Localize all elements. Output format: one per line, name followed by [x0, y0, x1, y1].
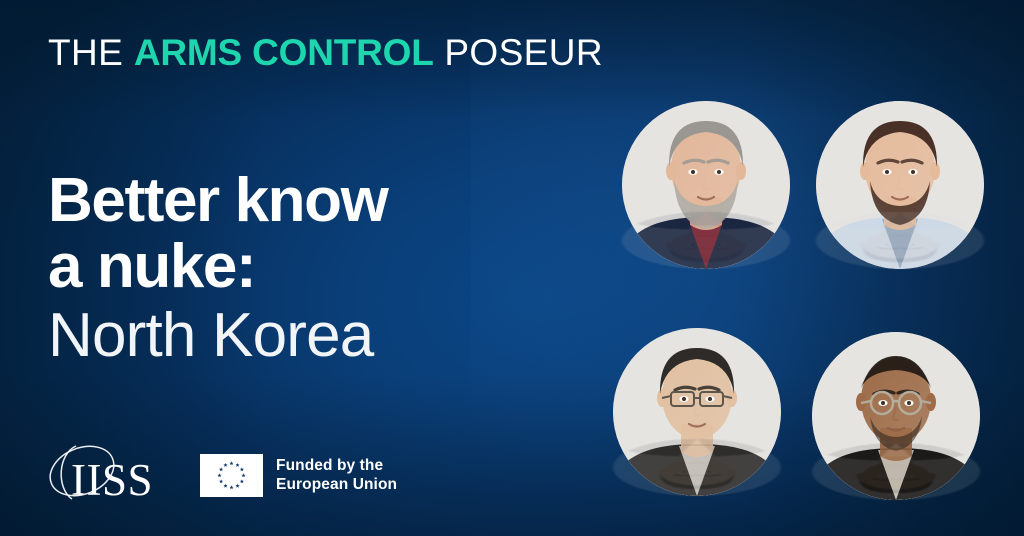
page-title: Better know a nuke: North Korea	[48, 168, 568, 369]
header-suffix: POSEUR	[434, 32, 603, 73]
eu-funding-line-2: European Union	[276, 475, 397, 494]
portrait-top-left	[622, 101, 790, 269]
header-prefix: THE	[48, 32, 134, 73]
title-line-1: Better know	[48, 168, 568, 234]
header-accent: ARMS CONTROL	[134, 32, 434, 73]
iiss-logo: IISS	[46, 444, 166, 506]
title-subject: North Korea	[48, 303, 568, 369]
portrait-illustration	[622, 101, 790, 269]
iiss-wordmark: IISS	[71, 458, 153, 503]
portrait-illustration	[613, 328, 781, 496]
portrait-illustration	[812, 332, 980, 500]
portrait-bottom-right	[812, 332, 980, 500]
portrait-illustration	[816, 101, 984, 269]
promo-banner: THE ARMS CONTROL POSEUR Better know a nu…	[0, 0, 1024, 536]
eu-funding-logo: Funded by the European Union	[200, 454, 397, 497]
title-line-2: a nuke:	[48, 234, 568, 300]
portrait-bottom-left	[613, 328, 781, 496]
eu-stars	[200, 454, 263, 497]
european-union-flag	[200, 454, 263, 497]
eu-funding-text: Funded by the European Union	[276, 456, 397, 495]
eu-funding-line-1: Funded by the	[276, 456, 397, 475]
logo-row: IISS Funded by the European Union	[46, 444, 397, 506]
series-header: THE ARMS CONTROL POSEUR	[48, 34, 603, 71]
portrait-top-right	[816, 101, 984, 269]
